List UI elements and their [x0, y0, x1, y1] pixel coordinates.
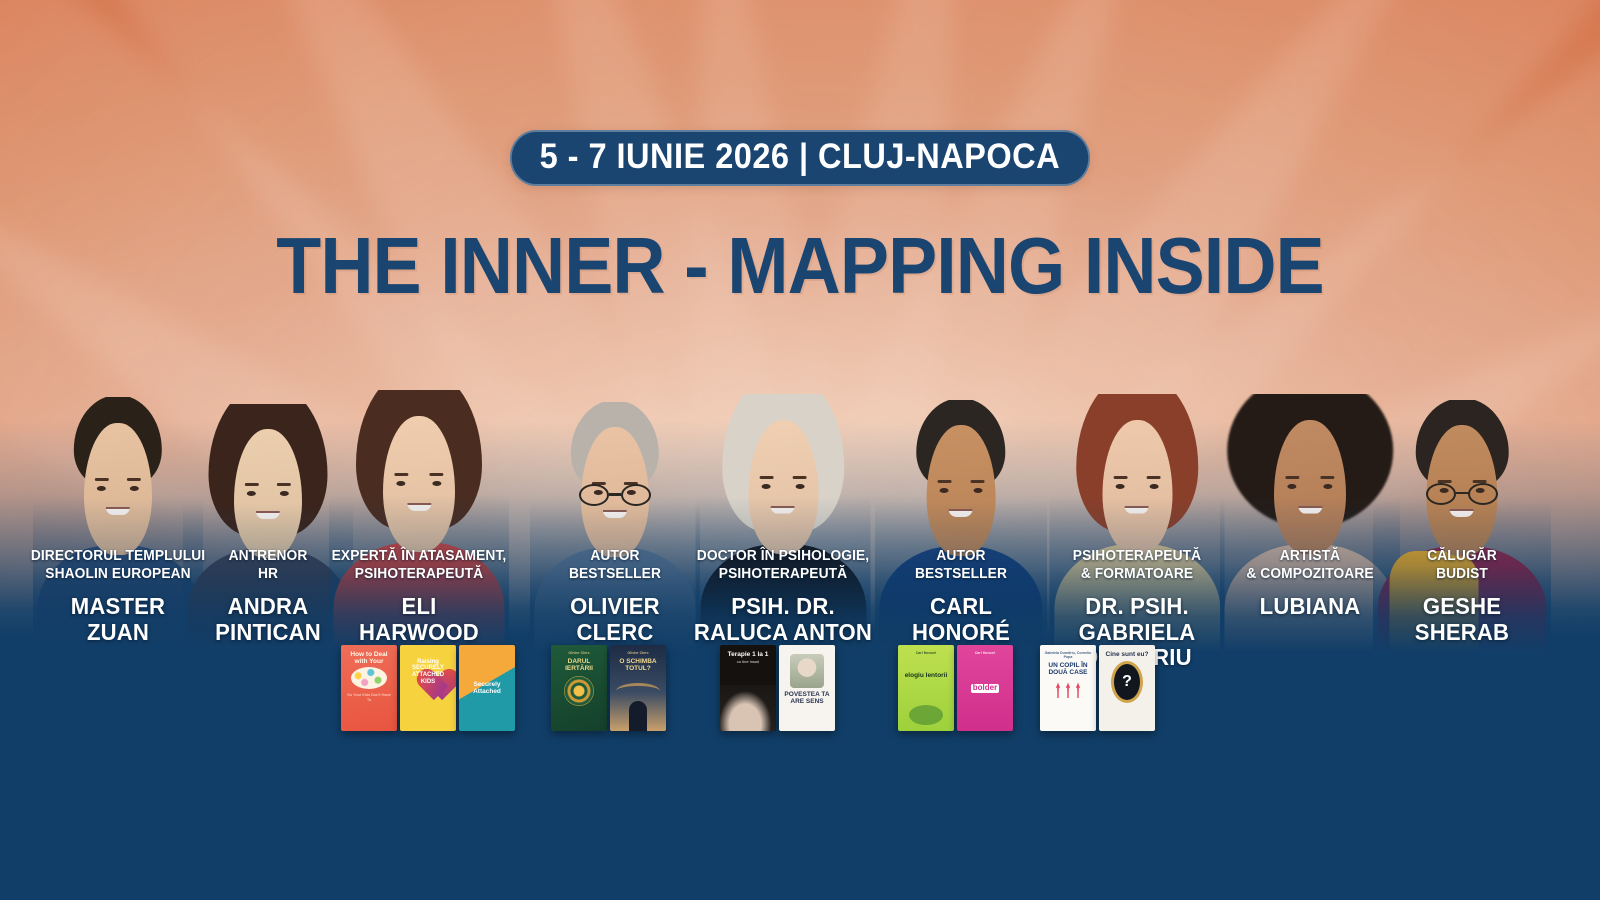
book-group: Carl Honoréelogiu lentoriiCarl Honorébol…: [898, 645, 1013, 731]
book-cover: Raising SECURELY ATTACHED KIDS: [400, 645, 456, 731]
book-author: Olivier Clerc: [627, 651, 648, 655]
book-title: O SCHIMBA TOTUL?: [614, 658, 662, 672]
book-cover: Gabriela Dumitriu, Corneliu PopaUN COPIL…: [1040, 645, 1096, 731]
footer-area: [0, 748, 1600, 900]
book-cover: How to Deal with Your So Your Kids Don't…: [341, 645, 397, 731]
book-title: Securely Attached: [463, 681, 511, 695]
book-title: elogiu lentorii: [905, 672, 948, 679]
book-subtitle: cu tine însuți: [737, 660, 759, 664]
header: 5 - 7 IUNIE 2026 | CLUJ-NAPOCA THE INNER…: [0, 0, 1600, 306]
book-title: bolder: [971, 684, 999, 693]
book-title: Terapie 1 la 1: [728, 651, 769, 658]
speaker-role: CĂLUGĂR BUDIST: [1358, 548, 1567, 583]
book-cover-row: How to Deal with Your So Your Kids Don't…: [0, 645, 1600, 745]
book-title: Raising SECURELY ATTACHED KIDS: [408, 654, 448, 690]
book-cover: Carl Honorébolder: [957, 645, 1013, 731]
book-group: How to Deal with Your So Your Kids Don't…: [341, 645, 515, 731]
book-group: Olivier ClercDARUL IERTĂRIIOlivier Clerc…: [551, 645, 666, 731]
book-title: UN COPIL ÎN DOUĂ CASE: [1044, 662, 1092, 676]
book-title: Cine sunt eu?: [1106, 651, 1149, 658]
page-title: THE INNER - MAPPING INSIDE: [64, 226, 1536, 306]
speaker-label: EXPERTĂ ÎN ATASAMENT, PSIHOTERAPEUTĂELI …: [309, 548, 529, 645]
book-cover: Carl Honoréelogiu lentorii: [898, 645, 954, 731]
book-cover: Olivier ClercDARUL IERTĂRII: [551, 645, 607, 731]
book-author: Gabriela Dumitriu, Corneliu Popa: [1044, 651, 1092, 659]
book-group: Gabriela Dumitriu, Corneliu PopaUN COPIL…: [1040, 645, 1155, 731]
book-title: DARUL IERTĂRII: [555, 658, 603, 672]
book-cover: POVESTEA TA ARE SENS: [779, 645, 835, 731]
speaker-name: ELI HARWOOD: [313, 594, 524, 645]
book-author: Carl Honoré: [916, 651, 937, 655]
speaker-name: GESHE SHERAB: [1356, 594, 1567, 645]
book-cover: Cine sunt eu? ?: [1099, 645, 1155, 731]
book-author: Carl Honoré: [975, 651, 996, 655]
date-location-badge: 5 - 7 IUNIE 2026 | CLUJ-NAPOCA: [510, 130, 1090, 186]
book-cover: Securely Attached: [459, 645, 515, 731]
book-title: How to Deal with Your: [345, 651, 393, 665]
speaker-role: EXPERTĂ ÎN ATASAMENT, PSIHOTERAPEUTĂ: [315, 548, 524, 583]
book-cover: Terapie 1 la 1 cu tine însuți: [720, 645, 776, 731]
book-subtitle: So Your Kids Don't Have To: [345, 693, 393, 702]
banner-stage: 5 - 7 IUNIE 2026 | CLUJ-NAPOCA THE INNER…: [0, 0, 1600, 900]
speaker-label: CĂLUGĂR BUDISTGESHE SHERAB: [1352, 548, 1572, 645]
book-title: POVESTEA TA ARE SENS: [783, 691, 831, 705]
book-group: Terapie 1 la 1 cu tine însuțiPOVESTEA TA…: [720, 645, 835, 731]
book-author: Olivier Clerc: [568, 651, 589, 655]
book-cover: Olivier ClercO SCHIMBA TOTUL?: [610, 645, 666, 731]
